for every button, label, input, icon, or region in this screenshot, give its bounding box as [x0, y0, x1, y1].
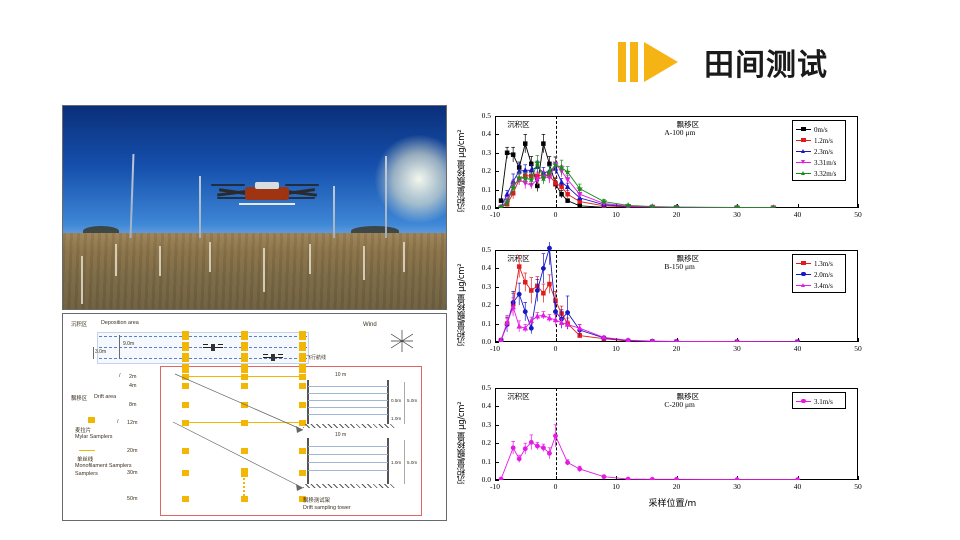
legend-mylar-en: Mylar Samplers: [75, 434, 112, 440]
legend-item[interactable]: 2.0m/s: [793, 269, 845, 280]
series-line-3.1m/s: [501, 436, 797, 480]
sampling-layout-diagram: 沉积区 Deposition area 9.0m 3.0m 飞行航线 Wind: [62, 313, 447, 521]
mylar-swatch: [182, 353, 189, 362]
slide-canvas: 田间测试: [0, 0, 960, 540]
panel-b: 沉积量/飘移量 μg/cm²0.00.10.20.30.40.5-1001020…: [455, 242, 910, 360]
legend-label: 0m/s: [814, 126, 828, 134]
legend-marker: [801, 160, 805, 164]
drift-charts-group: 沉积量/飘移量 μg/cm²0.00.10.20.30.40.5-1001020…: [455, 108, 910, 520]
photo-stake: [81, 256, 83, 304]
legend-mono-en: Monofilament Samplers: [75, 463, 132, 469]
mylar-swatch: [182, 331, 189, 340]
drift-area-label-cn: 飘移区: [71, 394, 87, 402]
legend-line-swatch: [796, 140, 811, 141]
legend-marker: [801, 272, 806, 277]
tower-height-label: 5.0m: [407, 398, 417, 403]
distance-label: 30m: [127, 470, 138, 476]
legend-marker: [801, 283, 805, 287]
legend-item[interactable]: 0m/s: [793, 124, 845, 135]
series-line-3.32m/s: [501, 163, 773, 208]
legend-mono-en2: Samplers: [75, 471, 98, 477]
photo-drone: [211, 178, 323, 210]
legend-marker: [801, 399, 806, 404]
drift-area-label-en: Drift area: [94, 394, 116, 400]
legend-label: 2.3m/s: [814, 148, 833, 156]
legend-marker: [801, 261, 806, 266]
series-line-3.31m/s: [501, 164, 773, 208]
distance-label: 2m: [129, 374, 137, 380]
mylar-swatch: [241, 342, 248, 351]
legend-label: 1.3m/s: [814, 260, 833, 268]
deposition-area-label-cn: 沉积区: [71, 320, 87, 328]
slide-title-block: 田间测试: [618, 38, 828, 86]
legend-marker: [801, 171, 805, 175]
field-test-photo: [62, 105, 447, 310]
photo-sampling-pole: [385, 156, 387, 238]
mylar-swatch: [299, 342, 306, 351]
photo-stake: [159, 246, 161, 276]
legend-line-swatch: [796, 285, 811, 286]
photo-ground: [63, 233, 446, 309]
legend-item[interactable]: 3.1m/s: [793, 396, 845, 407]
legend-item[interactable]: 1.2m/s: [793, 135, 845, 146]
distance-label: 12m: [127, 420, 138, 426]
legend-line-swatch: [796, 401, 811, 402]
legend-line-swatch: [796, 274, 811, 275]
chart-legend: 3.1m/s: [792, 392, 846, 409]
drift-tower-upper: 10 m 0.5m 1.0m 5.0m: [301, 380, 417, 428]
photo-sampling-pole: [333, 186, 335, 238]
mylar-swatch: [299, 331, 306, 340]
callout-arrows: [163, 370, 313, 500]
swath-width-label: 9.0m: [123, 341, 134, 347]
distance-label: 20m: [127, 448, 138, 454]
tower-width-label: 10 m: [335, 372, 346, 378]
diagram-drone-icon: [263, 354, 283, 361]
mylar-swatch: [241, 353, 248, 362]
legend-mono-cn: 单丝线: [77, 455, 93, 463]
wind-label: Wind: [363, 322, 377, 328]
legend-item[interactable]: 3.4m/s: [793, 280, 845, 291]
legend-mylar-cn: 麦拉片: [75, 426, 91, 434]
photo-stake: [403, 242, 405, 272]
mylar-swatch: [241, 331, 248, 340]
diagram-drone-icon: [203, 344, 223, 351]
height-dim-line: [93, 347, 94, 359]
drift-tower-lower: 10 m 1.0m 5.0m: [301, 438, 417, 490]
tower-gap-label: 0.5m: [391, 398, 401, 403]
legend-line-swatch: [796, 129, 811, 130]
legend-label: 1.2m/s: [814, 137, 833, 145]
panel-c: 沉积量/飘移量 μg/cm²0.00.10.20.30.40.5-1001020…: [455, 380, 910, 498]
deposition-area-label-en: Deposition area: [101, 320, 139, 326]
photo-stake: [115, 244, 117, 276]
wind-rose-icon: [385, 328, 419, 354]
flight-height-label: 3.0m: [95, 349, 106, 355]
tower-gap-label: 1.0m: [391, 416, 401, 421]
distance-label: 4m: [129, 383, 137, 389]
x-axis-title: 采样位置/m: [649, 496, 697, 509]
legend-item[interactable]: 2.3m/s: [793, 146, 845, 157]
flight-route-label: 飞行航线: [306, 354, 326, 361]
tower-width-label: 10 m: [335, 432, 346, 438]
legend-label: 3.32m/s: [814, 170, 836, 178]
legend-label: 2.0m/s: [814, 271, 833, 279]
legend-label: 3.31m/s: [814, 159, 836, 167]
chart-legend: 0m/s1.2m/s2.3m/s3.31m/s3.32m/s: [792, 120, 846, 181]
tower-gap-label: 1.0m: [391, 460, 401, 465]
legend-item[interactable]: 3.31m/s: [793, 157, 845, 168]
legend-line-swatch: [796, 173, 811, 174]
slash-mark: /: [117, 419, 119, 425]
panel-a: 沉积量/飘移量 μg/cm²0.00.10.20.30.40.5-1001020…: [455, 108, 910, 226]
page-title: 田间测试: [704, 40, 828, 84]
mylar-swatch: [182, 342, 189, 351]
legend-marker: [801, 149, 805, 153]
legend-line-swatch: [796, 263, 811, 264]
legend-marker: [801, 138, 806, 143]
tower-height-label: 5.0m: [407, 460, 417, 465]
photo-stake: [363, 246, 365, 280]
legend-item[interactable]: 3.32m/s: [793, 168, 845, 179]
swath-dim-line: [119, 335, 120, 359]
photo-stake: [209, 242, 211, 272]
series-line-1.3m/s: [501, 267, 797, 342]
distance-label: 8m: [129, 402, 137, 408]
photo-sampling-pole: [199, 176, 201, 238]
photo-stake: [263, 248, 265, 292]
monofilament-line: [79, 450, 95, 451]
play-forward-icon: [618, 42, 678, 82]
legend-line-swatch: [796, 162, 811, 163]
legend-label: 3.4m/s: [814, 282, 833, 290]
legend-item[interactable]: 1.3m/s: [793, 258, 845, 269]
mylar-swatch: [299, 353, 306, 362]
legend-line-swatch: [796, 151, 811, 152]
legend-label: 3.1m/s: [814, 398, 833, 406]
flight-path-line: [99, 336, 307, 337]
distance-label: 50m: [127, 496, 138, 502]
chart-legend: 1.3m/s2.0m/s3.4m/s: [792, 254, 846, 293]
tower-title-en: Drift sampling tower: [303, 505, 351, 511]
photo-stake: [309, 244, 311, 274]
legend-marker: [801, 127, 806, 132]
mylar-swatch: [88, 417, 95, 423]
slash-mark: /: [119, 373, 121, 379]
series-line-3.4m/s: [501, 307, 797, 342]
